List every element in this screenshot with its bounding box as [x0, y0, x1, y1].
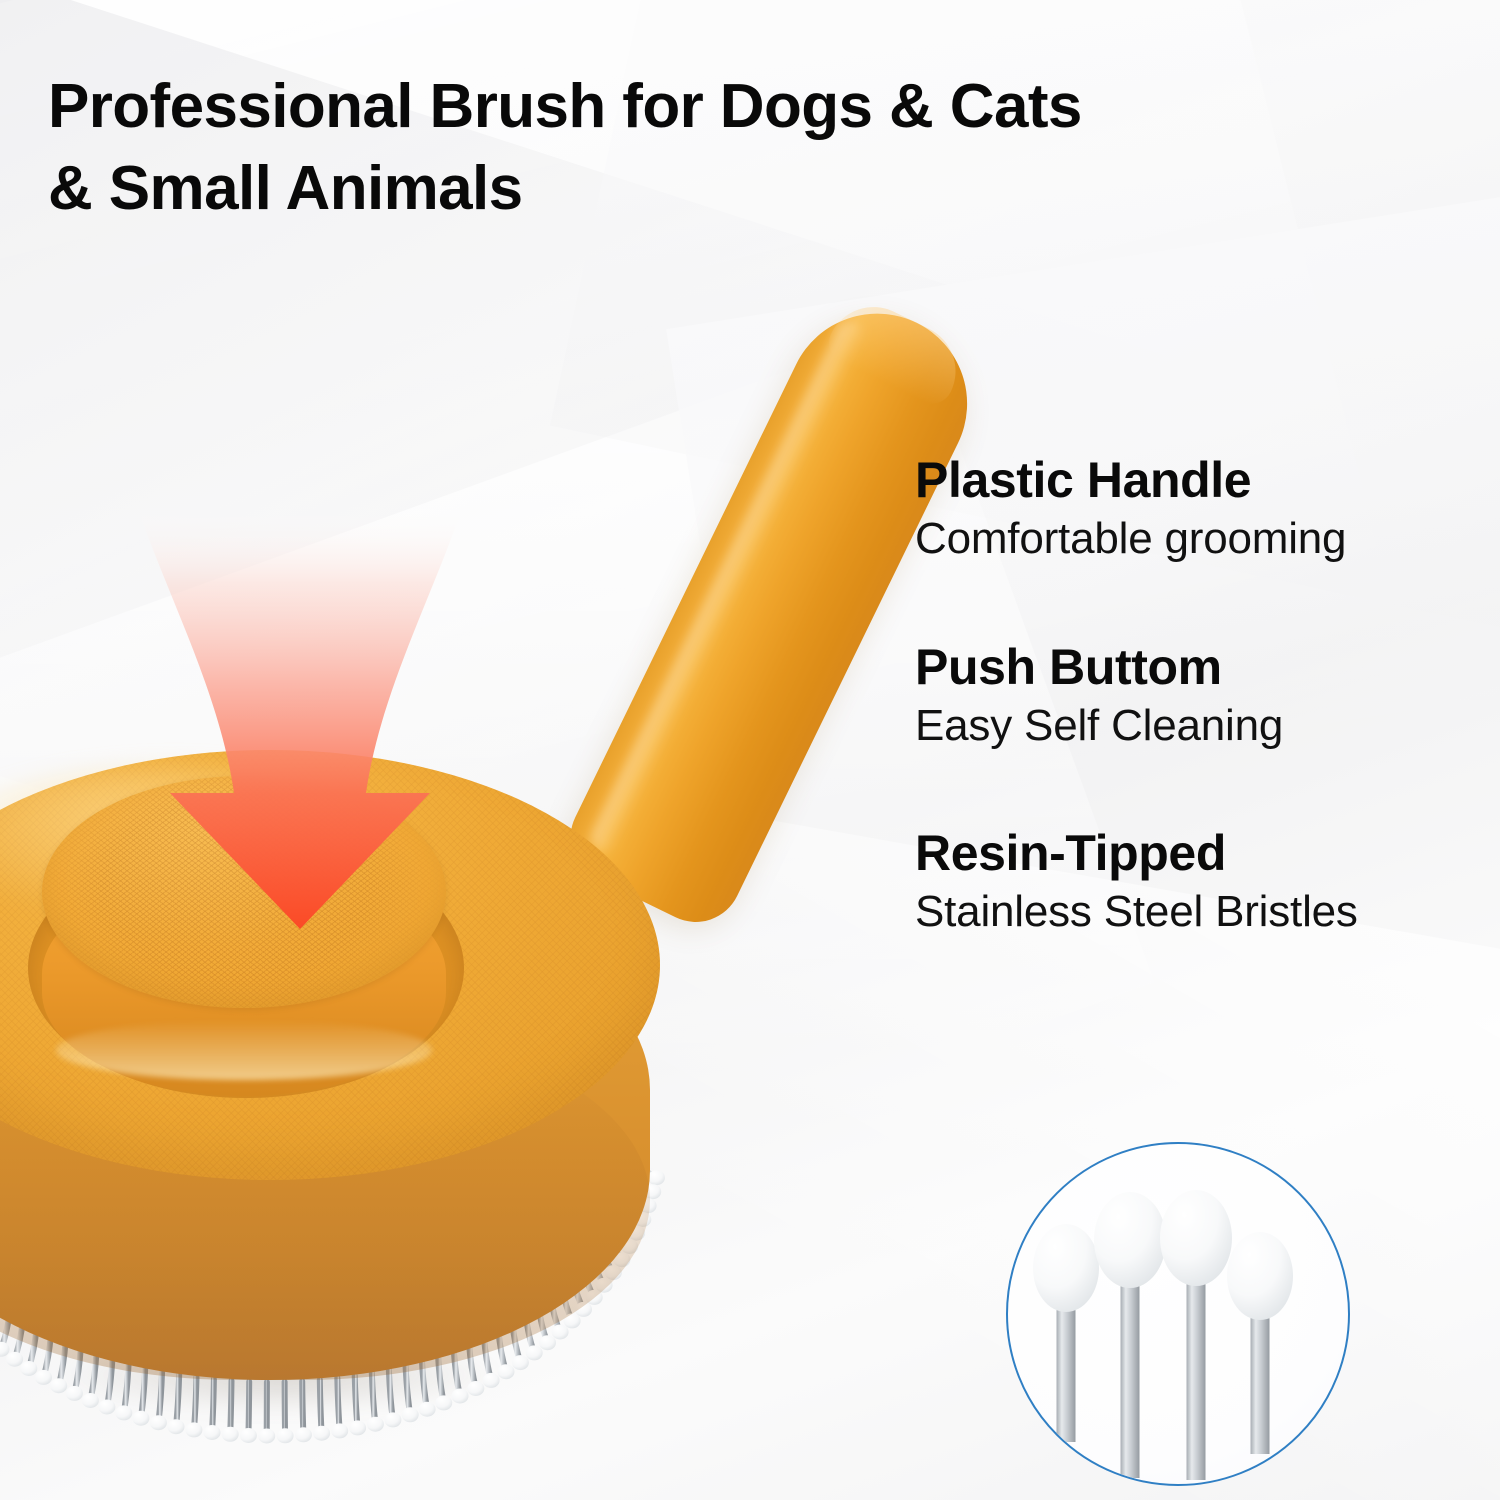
bristle-detail-inset [1006, 1142, 1350, 1486]
brush-head [0, 720, 740, 1440]
feature-subtitle: Stainless Steel Bristles [915, 887, 1475, 938]
push-button-texture [42, 776, 446, 1008]
feature-push-button: Push Buttom Easy Self Cleaning [915, 639, 1475, 752]
feature-title: Push Buttom [915, 639, 1475, 695]
inset-bristles [1006, 1142, 1350, 1486]
feature-plastic-handle: Plastic Handle Comfortable grooming [915, 452, 1475, 565]
feature-resin-tipped: Resin-Tipped Stainless Steel Bristles [915, 825, 1475, 938]
feature-title: Resin-Tipped [915, 825, 1475, 881]
push-button-rim-highlight [56, 1020, 432, 1080]
feature-title: Plastic Handle [915, 452, 1475, 508]
product-infographic: Professional Brush for Dogs & Cats & Sma… [0, 0, 1500, 1500]
feature-subtitle: Easy Self Cleaning [915, 701, 1475, 752]
feature-list: Plastic Handle Comfortable grooming Push… [915, 452, 1475, 938]
feature-subtitle: Comfortable grooming [915, 514, 1475, 565]
